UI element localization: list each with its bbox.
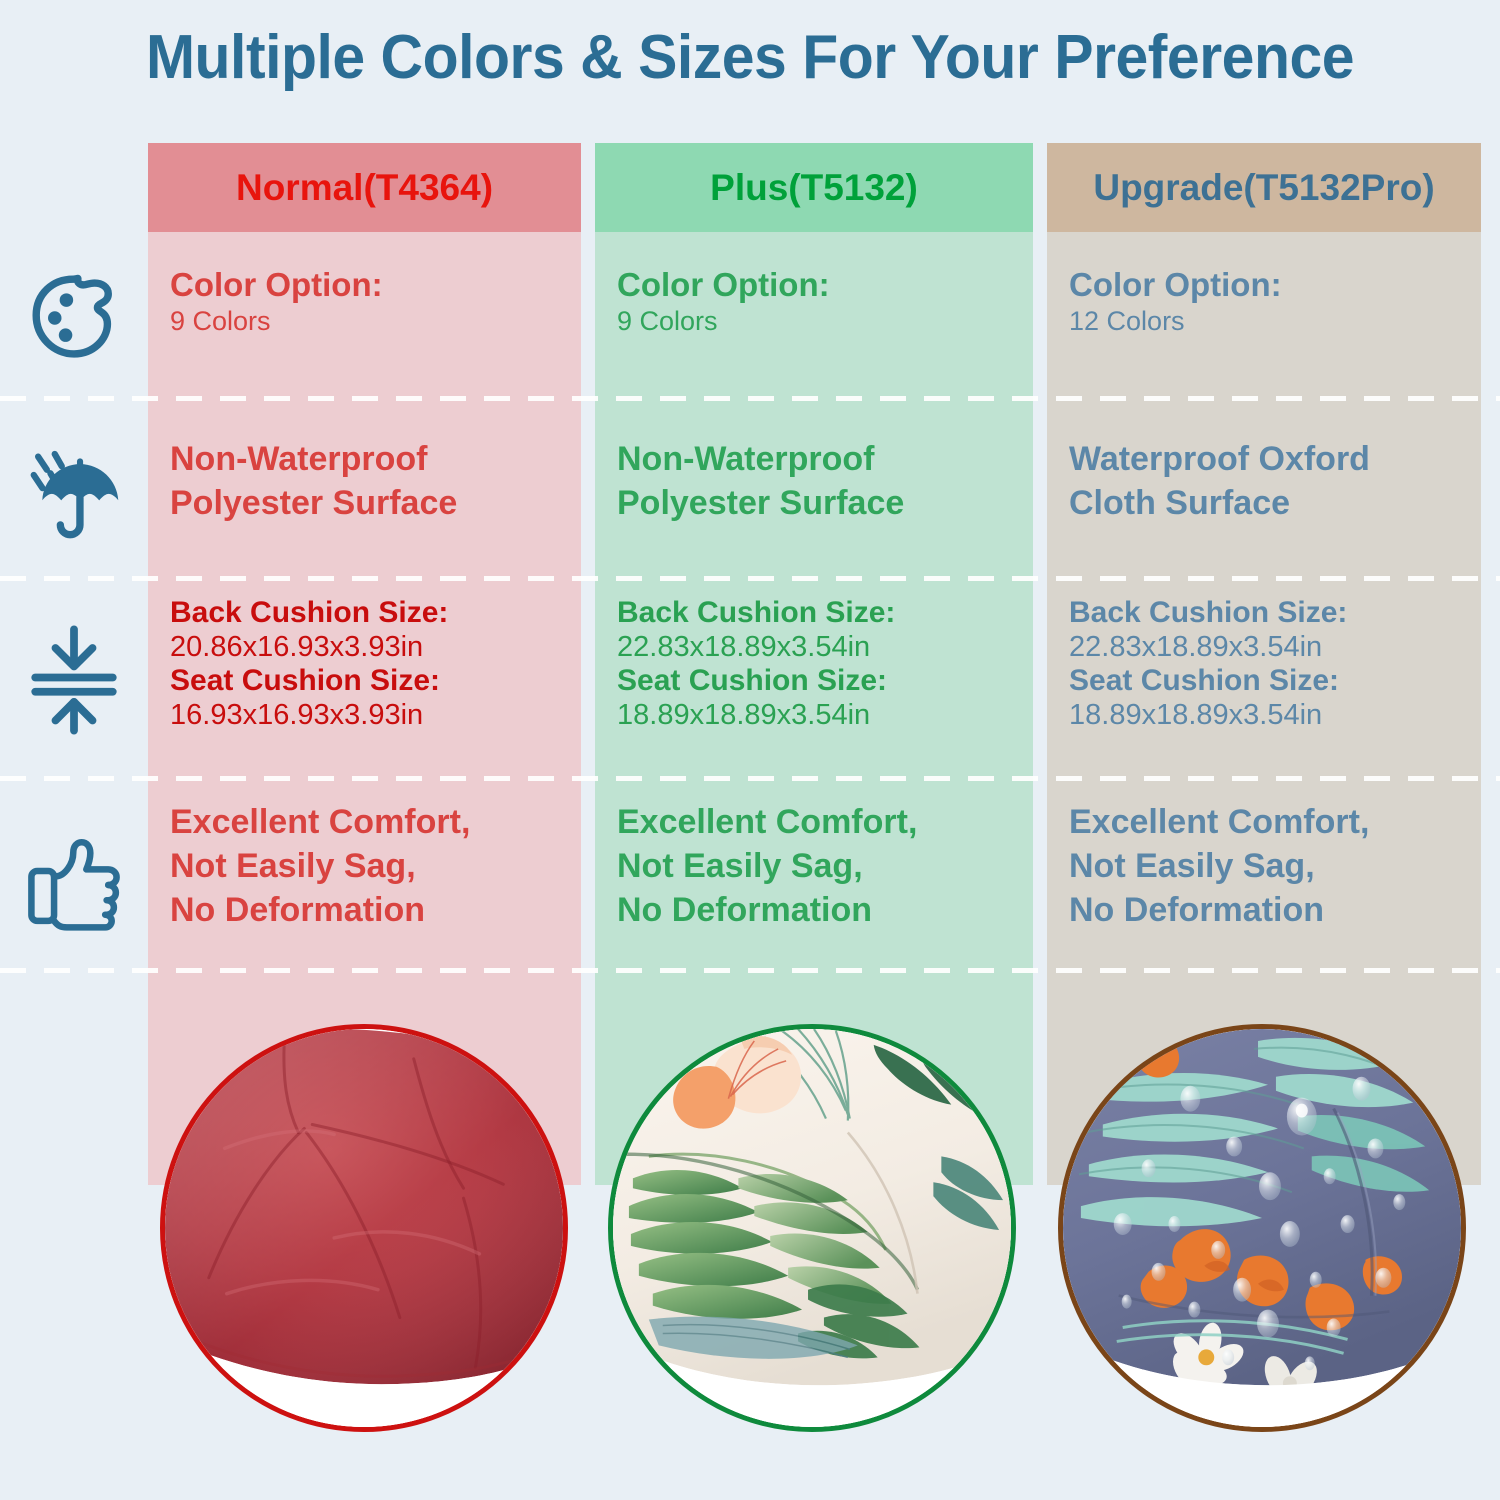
column-header-plus-label: Plus(T5132) [710,167,918,209]
color-option-value-plus: 9 Colors [617,305,1033,338]
comfort-line3-upgrade: No Deformation [1069,888,1481,932]
product-photo-plus [608,1024,1016,1432]
surface-line2-normal: Polyester Surface [170,481,581,525]
seat-size-value-plus: 18.89x18.89x3.54in [617,699,1033,733]
column-header-normal-label: Normal(T4364) [236,167,493,209]
back-size-value-normal: 20.86x16.93x3.93in [170,631,581,665]
product-photo-upgrade [1058,1024,1466,1432]
comfort-line1-plus: Excellent Comfort, [617,800,1033,844]
surface-line2-plus: Polyester Surface [617,481,1033,525]
surface-line1-plus: Non-Waterproof [617,437,1033,481]
row-divider-1 [0,396,1500,401]
cell-sizes-plus: Back Cushion Size: 22.83x18.89x3.54in Se… [595,596,1033,733]
cell-comfort-normal: Excellent Comfort, Not Easily Sag, No De… [148,800,581,933]
cell-comfort-upgrade: Excellent Comfort, Not Easily Sag, No De… [1047,800,1481,933]
comfort-line3-plus: No Deformation [617,888,1033,932]
column-header-upgrade: Upgrade(T5132Pro) [1047,143,1481,232]
cell-surface-upgrade: Waterproof Oxford Cloth Surface [1047,437,1481,525]
comfort-line2-upgrade: Not Easily Sag, [1069,844,1481,888]
seat-size-label-normal: Seat Cushion Size: [170,664,581,699]
cell-color-option-upgrade: Color Option: 12 Colors [1047,265,1481,338]
column-header-upgrade-label: Upgrade(T5132Pro) [1093,167,1434,209]
comfort-line2-plus: Not Easily Sag, [617,844,1033,888]
seat-size-label-upgrade: Seat Cushion Size: [1069,664,1481,699]
color-option-label-upgrade: Color Option: [1069,265,1481,305]
comfort-line2-normal: Not Easily Sag, [170,844,581,888]
surface-line2-upgrade: Cloth Surface [1069,481,1481,525]
row-divider-4 [0,968,1500,973]
column-header-plus: Plus(T5132) [595,143,1033,232]
seat-size-label-plus: Seat Cushion Size: [617,664,1033,699]
cell-color-option-plus: Color Option: 9 Colors [595,265,1033,338]
back-size-label-plus: Back Cushion Size: [617,596,1033,631]
back-size-label-upgrade: Back Cushion Size: [1069,596,1481,631]
row-divider-2 [0,576,1500,581]
cell-sizes-upgrade: Back Cushion Size: 22.83x18.89x3.54in Se… [1047,596,1481,733]
comfort-line3-normal: No Deformation [170,888,581,932]
surface-line1-normal: Non-Waterproof [170,437,581,481]
column-header-normal: Normal(T4364) [148,143,581,232]
cell-surface-normal: Non-Waterproof Polyester Surface [148,437,581,525]
row-divider-3 [0,776,1500,781]
surface-line1-upgrade: Waterproof Oxford [1069,437,1481,481]
page-title: Multiple Colors & Sizes For Your Prefere… [38,22,1463,93]
seat-size-value-upgrade: 18.89x18.89x3.54in [1069,699,1481,733]
cell-color-option-normal: Color Option: 9 Colors [148,265,581,338]
cell-surface-plus: Non-Waterproof Polyester Surface [595,437,1033,525]
back-size-label-normal: Back Cushion Size: [170,596,581,631]
comfort-line1-upgrade: Excellent Comfort, [1069,800,1481,844]
color-option-value-normal: 9 Colors [170,305,581,338]
color-option-value-upgrade: 12 Colors [1069,305,1481,338]
palette-icon [12,253,136,388]
cell-sizes-normal: Back Cushion Size: 20.86x16.93x3.93in Se… [148,596,581,733]
thickness-arrows-icon [12,605,136,755]
thumbs-up-icon [12,806,136,956]
color-option-label-plus: Color Option: [617,265,1033,305]
color-option-label-normal: Color Option: [170,265,581,305]
seat-size-value-normal: 16.93x16.93x3.93in [170,699,581,733]
comfort-line1-normal: Excellent Comfort, [170,800,581,844]
back-size-value-upgrade: 22.83x18.89x3.54in [1069,631,1481,665]
umbrella-rain-icon [12,428,136,563]
cell-comfort-plus: Excellent Comfort, Not Easily Sag, No De… [595,800,1033,933]
back-size-value-plus: 22.83x18.89x3.54in [617,631,1033,665]
product-photo-normal [160,1024,568,1432]
